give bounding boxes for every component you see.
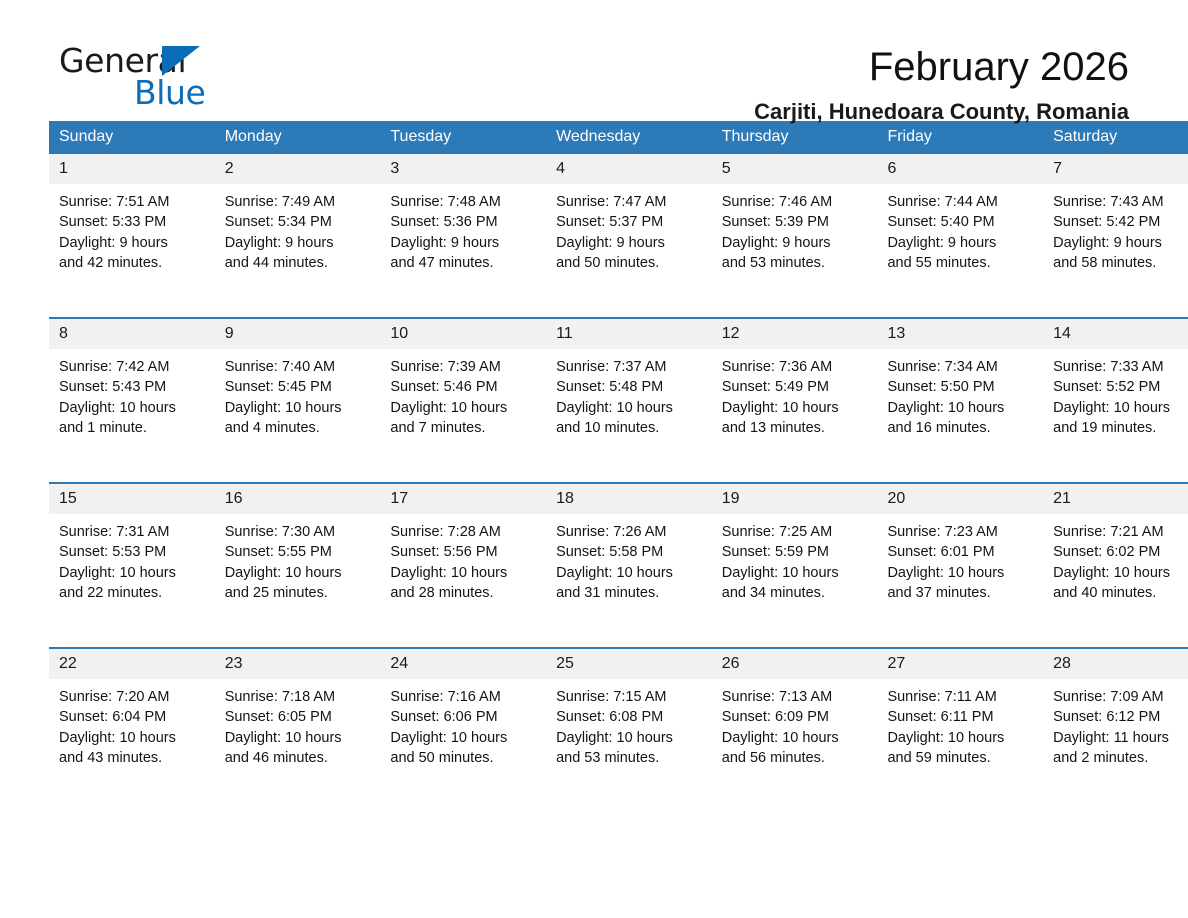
weekday-header-sunday: Sunday [49, 121, 215, 154]
daylight-text-line2: and 40 minutes. [1053, 583, 1188, 603]
day-details: Sunrise: 7:39 AM Sunset: 5:46 PM Dayligh… [380, 349, 546, 438]
calendar-day-cell[interactable]: 12 Sunrise: 7:36 AM Sunset: 5:49 PM Dayl… [712, 318, 878, 483]
sunrise-sunset-calendar: Sunday Monday Tuesday Wednesday Thursday… [49, 121, 1188, 812]
day-number: 27 [877, 649, 1043, 679]
daylight-text-line2: and 2 minutes. [1053, 748, 1188, 768]
sunrise-text: Sunrise: 7:30 AM [225, 522, 381, 542]
sunset-text: Sunset: 5:43 PM [59, 377, 215, 397]
day-details: Sunrise: 7:09 AM Sunset: 6:12 PM Dayligh… [1043, 679, 1188, 768]
sunrise-text: Sunrise: 7:39 AM [390, 357, 546, 377]
daylight-text-line2: and 34 minutes. [722, 583, 878, 603]
daylight-text-line2: and 7 minutes. [390, 418, 546, 438]
sunrise-text: Sunrise: 7:23 AM [887, 522, 1043, 542]
daylight-text-line1: Daylight: 10 hours [722, 398, 878, 418]
day-number: 16 [215, 484, 381, 514]
weekday-header-monday: Monday [215, 121, 381, 154]
daylight-text-line1: Daylight: 9 hours [556, 233, 712, 253]
day-number: 10 [380, 319, 546, 349]
sunrise-text: Sunrise: 7:49 AM [225, 192, 381, 212]
calendar-day-cell[interactable]: 19 Sunrise: 7:25 AM Sunset: 5:59 PM Dayl… [712, 483, 878, 648]
calendar-day-cell[interactable]: 4 Sunrise: 7:47 AM Sunset: 5:37 PM Dayli… [546, 154, 712, 318]
daylight-text-line1: Daylight: 9 hours [1053, 233, 1188, 253]
calendar-day-cell[interactable]: 13 Sunrise: 7:34 AM Sunset: 5:50 PM Dayl… [877, 318, 1043, 483]
day-details: Sunrise: 7:51 AM Sunset: 5:33 PM Dayligh… [49, 184, 215, 273]
calendar-day-cell[interactable]: 14 Sunrise: 7:33 AM Sunset: 5:52 PM Dayl… [1043, 318, 1188, 483]
sunset-text: Sunset: 5:42 PM [1053, 212, 1188, 232]
daylight-text-line1: Daylight: 10 hours [390, 563, 546, 583]
day-details: Sunrise: 7:30 AM Sunset: 5:55 PM Dayligh… [215, 514, 381, 603]
day-details: Sunrise: 7:46 AM Sunset: 5:39 PM Dayligh… [712, 184, 878, 273]
day-details: Sunrise: 7:36 AM Sunset: 5:49 PM Dayligh… [712, 349, 878, 438]
daylight-text-line1: Daylight: 9 hours [225, 233, 381, 253]
daylight-text-line2: and 59 minutes. [887, 748, 1043, 768]
sunset-text: Sunset: 5:52 PM [1053, 377, 1188, 397]
sunset-text: Sunset: 5:56 PM [390, 542, 546, 562]
day-details: Sunrise: 7:43 AM Sunset: 5:42 PM Dayligh… [1043, 184, 1188, 273]
daylight-text-line2: and 22 minutes. [59, 583, 215, 603]
day-details: Sunrise: 7:40 AM Sunset: 5:45 PM Dayligh… [215, 349, 381, 438]
day-details: Sunrise: 7:33 AM Sunset: 5:52 PM Dayligh… [1043, 349, 1188, 438]
daylight-text-line1: Daylight: 10 hours [225, 728, 381, 748]
daylight-text-line2: and 19 minutes. [1053, 418, 1188, 438]
calendar-day-cell[interactable]: 17 Sunrise: 7:28 AM Sunset: 5:56 PM Dayl… [380, 483, 546, 648]
sunset-text: Sunset: 6:05 PM [225, 707, 381, 727]
daylight-text-line2: and 31 minutes. [556, 583, 712, 603]
calendar-day-cell[interactable]: 3 Sunrise: 7:48 AM Sunset: 5:36 PM Dayli… [380, 154, 546, 318]
sunset-text: Sunset: 6:02 PM [1053, 542, 1188, 562]
sunrise-text: Sunrise: 7:09 AM [1053, 687, 1188, 707]
sunset-text: Sunset: 5:45 PM [225, 377, 381, 397]
sunset-text: Sunset: 5:33 PM [59, 212, 215, 232]
day-number: 13 [877, 319, 1043, 349]
calendar-day-cell[interactable]: 6 Sunrise: 7:44 AM Sunset: 5:40 PM Dayli… [877, 154, 1043, 318]
sunrise-text: Sunrise: 7:42 AM [59, 357, 215, 377]
day-details: Sunrise: 7:37 AM Sunset: 5:48 PM Dayligh… [546, 349, 712, 438]
calendar-day-cell[interactable]: 26 Sunrise: 7:13 AM Sunset: 6:09 PM Dayl… [712, 648, 878, 812]
calendar-day-cell[interactable]: 10 Sunrise: 7:39 AM Sunset: 5:46 PM Dayl… [380, 318, 546, 483]
sunrise-text: Sunrise: 7:48 AM [390, 192, 546, 212]
day-number: 19 [712, 484, 878, 514]
brand-logo[interactable]: General Blue [59, 44, 259, 110]
sunrise-text: Sunrise: 7:15 AM [556, 687, 712, 707]
day-number: 14 [1043, 319, 1188, 349]
day-details: Sunrise: 7:13 AM Sunset: 6:09 PM Dayligh… [712, 679, 878, 768]
daylight-text-line2: and 10 minutes. [556, 418, 712, 438]
daylight-text-line1: Daylight: 10 hours [59, 398, 215, 418]
daylight-text-line1: Daylight: 10 hours [225, 398, 381, 418]
day-number: 17 [380, 484, 546, 514]
daylight-text-line1: Daylight: 10 hours [1053, 563, 1188, 583]
day-number: 8 [49, 319, 215, 349]
daylight-text-line2: and 50 minutes. [390, 748, 546, 768]
daylight-text-line2: and 25 minutes. [225, 583, 381, 603]
sunset-text: Sunset: 5:36 PM [390, 212, 546, 232]
day-details: Sunrise: 7:42 AM Sunset: 5:43 PM Dayligh… [49, 349, 215, 438]
daylight-text-line2: and 4 minutes. [225, 418, 381, 438]
day-details: Sunrise: 7:16 AM Sunset: 6:06 PM Dayligh… [380, 679, 546, 768]
daylight-text-line1: Daylight: 10 hours [1053, 398, 1188, 418]
sunrise-text: Sunrise: 7:25 AM [722, 522, 878, 542]
triangle-logo-icon [162, 46, 200, 76]
daylight-text-line2: and 28 minutes. [390, 583, 546, 603]
weekday-header-wednesday: Wednesday [546, 121, 712, 154]
daylight-text-line1: Daylight: 10 hours [390, 728, 546, 748]
calendar-day-cell[interactable]: 5 Sunrise: 7:46 AM Sunset: 5:39 PM Dayli… [712, 154, 878, 318]
daylight-text-line1: Daylight: 10 hours [390, 398, 546, 418]
daylight-text-line1: Daylight: 10 hours [556, 728, 712, 748]
sunset-text: Sunset: 5:50 PM [887, 377, 1043, 397]
day-number: 9 [215, 319, 381, 349]
calendar-day-cell[interactable]: 15 Sunrise: 7:31 AM Sunset: 5:53 PM Dayl… [49, 483, 215, 648]
sunrise-text: Sunrise: 7:33 AM [1053, 357, 1188, 377]
day-details: Sunrise: 7:34 AM Sunset: 5:50 PM Dayligh… [877, 349, 1043, 438]
day-number: 23 [215, 649, 381, 679]
calendar-week-row: 22 Sunrise: 7:20 AM Sunset: 6:04 PM Dayl… [49, 648, 1188, 812]
day-number: 28 [1043, 649, 1188, 679]
day-details: Sunrise: 7:28 AM Sunset: 5:56 PM Dayligh… [380, 514, 546, 603]
page-title: February 2026 [429, 44, 1129, 90]
weekday-header-row: Sunday Monday Tuesday Wednesday Thursday… [49, 121, 1188, 154]
daylight-text-line2: and 37 minutes. [887, 583, 1043, 603]
page-masthead: General Blue February 2026 Carjiti, Hune… [49, 0, 1139, 112]
sunrise-text: Sunrise: 7:28 AM [390, 522, 546, 542]
daylight-text-line1: Daylight: 10 hours [887, 728, 1043, 748]
calendar-day-cell[interactable]: 18 Sunrise: 7:26 AM Sunset: 5:58 PM Dayl… [546, 483, 712, 648]
calendar-day-cell[interactable]: 28 Sunrise: 7:09 AM Sunset: 6:12 PM Dayl… [1043, 648, 1188, 812]
day-number: 2 [215, 154, 381, 184]
calendar-body: 1 Sunrise: 7:51 AM Sunset: 5:33 PM Dayli… [49, 154, 1188, 812]
weekday-header-saturday: Saturday [1043, 121, 1188, 154]
daylight-text-line1: Daylight: 10 hours [722, 563, 878, 583]
sunrise-text: Sunrise: 7:44 AM [887, 192, 1043, 212]
day-details: Sunrise: 7:20 AM Sunset: 6:04 PM Dayligh… [49, 679, 215, 768]
daylight-text-line2: and 13 minutes. [722, 418, 878, 438]
day-details: Sunrise: 7:47 AM Sunset: 5:37 PM Dayligh… [546, 184, 712, 273]
sunset-text: Sunset: 6:06 PM [390, 707, 546, 727]
day-number: 5 [712, 154, 878, 184]
sunrise-text: Sunrise: 7:43 AM [1053, 192, 1188, 212]
day-number: 22 [49, 649, 215, 679]
daylight-text-line1: Daylight: 10 hours [722, 728, 878, 748]
sunset-text: Sunset: 5:59 PM [722, 542, 878, 562]
day-details: Sunrise: 7:31 AM Sunset: 5:53 PM Dayligh… [49, 514, 215, 603]
day-number: 21 [1043, 484, 1188, 514]
calendar-day-cell[interactable]: 23 Sunrise: 7:18 AM Sunset: 6:05 PM Dayl… [215, 648, 381, 812]
daylight-text-line1: Daylight: 10 hours [225, 563, 381, 583]
day-details: Sunrise: 7:49 AM Sunset: 5:34 PM Dayligh… [215, 184, 381, 273]
daylight-text-line2: and 16 minutes. [887, 418, 1043, 438]
daylight-text-line1: Daylight: 9 hours [722, 233, 878, 253]
day-details: Sunrise: 7:23 AM Sunset: 6:01 PM Dayligh… [877, 514, 1043, 603]
daylight-text-line2: and 53 minutes. [556, 748, 712, 768]
daylight-text-line2: and 44 minutes. [225, 253, 381, 273]
day-number: 3 [380, 154, 546, 184]
calendar-header: Sunday Monday Tuesday Wednesday Thursday… [49, 121, 1188, 154]
day-details: Sunrise: 7:15 AM Sunset: 6:08 PM Dayligh… [546, 679, 712, 768]
daylight-text-line2: and 43 minutes. [59, 748, 215, 768]
weekday-header-tuesday: Tuesday [380, 121, 546, 154]
calendar-day-cell[interactable]: 24 Sunrise: 7:16 AM Sunset: 6:06 PM Dayl… [380, 648, 546, 812]
sunset-text: Sunset: 5:46 PM [390, 377, 546, 397]
brand-word-blue: Blue [134, 76, 205, 109]
calendar-day-cell[interactable]: 21 Sunrise: 7:21 AM Sunset: 6:02 PM Dayl… [1043, 483, 1188, 648]
sunset-text: Sunset: 5:34 PM [225, 212, 381, 232]
sunset-text: Sunset: 5:49 PM [722, 377, 878, 397]
sunset-text: Sunset: 5:48 PM [556, 377, 712, 397]
day-details: Sunrise: 7:25 AM Sunset: 5:59 PM Dayligh… [712, 514, 878, 603]
calendar-day-cell[interactable]: 25 Sunrise: 7:15 AM Sunset: 6:08 PM Dayl… [546, 648, 712, 812]
calendar-day-cell[interactable]: 20 Sunrise: 7:23 AM Sunset: 6:01 PM Dayl… [877, 483, 1043, 648]
daylight-text-line1: Daylight: 10 hours [59, 728, 215, 748]
title-block: February 2026 Carjiti, Hunedoara County,… [429, 44, 1129, 125]
daylight-text-line1: Daylight: 10 hours [59, 563, 215, 583]
day-number: 12 [712, 319, 878, 349]
calendar-day-cell[interactable]: 2 Sunrise: 7:49 AM Sunset: 5:34 PM Dayli… [215, 154, 381, 318]
sunset-text: Sunset: 6:01 PM [887, 542, 1043, 562]
calendar-day-cell[interactable]: 27 Sunrise: 7:11 AM Sunset: 6:11 PM Dayl… [877, 648, 1043, 812]
sunrise-text: Sunrise: 7:47 AM [556, 192, 712, 212]
daylight-text-line2: and 58 minutes. [1053, 253, 1188, 273]
daylight-text-line2: and 47 minutes. [390, 253, 546, 273]
sunrise-text: Sunrise: 7:36 AM [722, 357, 878, 377]
daylight-text-line1: Daylight: 10 hours [887, 398, 1043, 418]
calendar-week-row: 15 Sunrise: 7:31 AM Sunset: 5:53 PM Dayl… [49, 483, 1188, 648]
daylight-text-line1: Daylight: 10 hours [556, 563, 712, 583]
calendar-day-cell[interactable]: 11 Sunrise: 7:37 AM Sunset: 5:48 PM Dayl… [546, 318, 712, 483]
weekday-header-friday: Friday [877, 121, 1043, 154]
day-number: 26 [712, 649, 878, 679]
sunset-text: Sunset: 6:09 PM [722, 707, 878, 727]
daylight-text-line2: and 46 minutes. [225, 748, 381, 768]
day-details: Sunrise: 7:26 AM Sunset: 5:58 PM Dayligh… [546, 514, 712, 603]
calendar-day-cell[interactable]: 7 Sunrise: 7:43 AM Sunset: 5:42 PM Dayli… [1043, 154, 1188, 318]
sunset-text: Sunset: 5:39 PM [722, 212, 878, 232]
location-subtitle: Carjiti, Hunedoara County, Romania [429, 99, 1129, 125]
sunrise-text: Sunrise: 7:31 AM [59, 522, 215, 542]
weekday-header-thursday: Thursday [712, 121, 878, 154]
daylight-text-line1: Daylight: 9 hours [390, 233, 546, 253]
sunrise-text: Sunrise: 7:13 AM [722, 687, 878, 707]
sunset-text: Sunset: 6:08 PM [556, 707, 712, 727]
calendar-day-cell[interactable]: 1 Sunrise: 7:51 AM Sunset: 5:33 PM Dayli… [49, 154, 215, 318]
calendar-day-cell[interactable]: 9 Sunrise: 7:40 AM Sunset: 5:45 PM Dayli… [215, 318, 381, 483]
sunrise-text: Sunrise: 7:20 AM [59, 687, 215, 707]
daylight-text-line1: Daylight: 11 hours [1053, 728, 1188, 748]
daylight-text-line2: and 50 minutes. [556, 253, 712, 273]
sunset-text: Sunset: 5:40 PM [887, 212, 1043, 232]
day-number: 24 [380, 649, 546, 679]
sunset-text: Sunset: 5:58 PM [556, 542, 712, 562]
sunrise-text: Sunrise: 7:37 AM [556, 357, 712, 377]
sunrise-text: Sunrise: 7:16 AM [390, 687, 546, 707]
sunset-text: Sunset: 6:11 PM [887, 707, 1043, 727]
daylight-text-line1: Daylight: 10 hours [556, 398, 712, 418]
daylight-text-line1: Daylight: 9 hours [59, 233, 215, 253]
day-number: 11 [546, 319, 712, 349]
calendar-week-row: 8 Sunrise: 7:42 AM Sunset: 5:43 PM Dayli… [49, 318, 1188, 483]
sunset-text: Sunset: 5:37 PM [556, 212, 712, 232]
day-number: 20 [877, 484, 1043, 514]
sunset-text: Sunset: 5:53 PM [59, 542, 215, 562]
calendar-day-cell[interactable]: 16 Sunrise: 7:30 AM Sunset: 5:55 PM Dayl… [215, 483, 381, 648]
sunrise-text: Sunrise: 7:34 AM [887, 357, 1043, 377]
day-number: 15 [49, 484, 215, 514]
daylight-text-line1: Daylight: 9 hours [887, 233, 1043, 253]
day-number: 7 [1043, 154, 1188, 184]
calendar-week-row: 1 Sunrise: 7:51 AM Sunset: 5:33 PM Dayli… [49, 154, 1188, 318]
daylight-text-line2: and 53 minutes. [722, 253, 878, 273]
day-number: 25 [546, 649, 712, 679]
sunrise-text: Sunrise: 7:18 AM [225, 687, 381, 707]
day-details: Sunrise: 7:48 AM Sunset: 5:36 PM Dayligh… [380, 184, 546, 273]
sunrise-text: Sunrise: 7:51 AM [59, 192, 215, 212]
daylight-text-line2: and 55 minutes. [887, 253, 1043, 273]
calendar-day-cell[interactable]: 8 Sunrise: 7:42 AM Sunset: 5:43 PM Dayli… [49, 318, 215, 483]
calendar-page: General Blue February 2026 Carjiti, Hune… [0, 0, 1188, 918]
day-details: Sunrise: 7:11 AM Sunset: 6:11 PM Dayligh… [877, 679, 1043, 768]
sunrise-text: Sunrise: 7:40 AM [225, 357, 381, 377]
daylight-text-line2: and 1 minute. [59, 418, 215, 438]
calendar-day-cell[interactable]: 22 Sunrise: 7:20 AM Sunset: 6:04 PM Dayl… [49, 648, 215, 812]
day-number: 18 [546, 484, 712, 514]
day-details: Sunrise: 7:44 AM Sunset: 5:40 PM Dayligh… [877, 184, 1043, 273]
day-number: 1 [49, 154, 215, 184]
sunset-text: Sunset: 6:04 PM [59, 707, 215, 727]
sunrise-text: Sunrise: 7:11 AM [887, 687, 1043, 707]
day-number: 4 [546, 154, 712, 184]
day-details: Sunrise: 7:18 AM Sunset: 6:05 PM Dayligh… [215, 679, 381, 768]
day-number: 6 [877, 154, 1043, 184]
daylight-text-line2: and 42 minutes. [59, 253, 215, 273]
day-details: Sunrise: 7:21 AM Sunset: 6:02 PM Dayligh… [1043, 514, 1188, 603]
sunrise-text: Sunrise: 7:21 AM [1053, 522, 1188, 542]
sunset-text: Sunset: 5:55 PM [225, 542, 381, 562]
sunset-text: Sunset: 6:12 PM [1053, 707, 1188, 727]
daylight-text-line2: and 56 minutes. [722, 748, 878, 768]
sunrise-text: Sunrise: 7:46 AM [722, 192, 878, 212]
daylight-text-line1: Daylight: 10 hours [887, 563, 1043, 583]
sunrise-text: Sunrise: 7:26 AM [556, 522, 712, 542]
